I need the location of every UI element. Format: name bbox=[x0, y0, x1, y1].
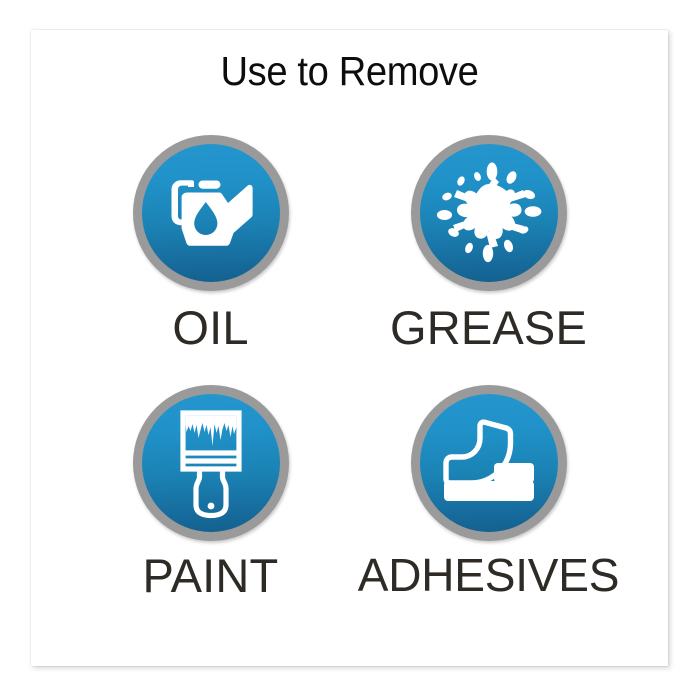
grid-item-paint[interactable]: PAINT bbox=[72, 385, 350, 601]
badge-inner-oil bbox=[142, 144, 280, 282]
badge-inner-grease bbox=[420, 144, 558, 282]
label-grease: GREASE bbox=[390, 303, 587, 353]
splatter-icon bbox=[436, 160, 542, 266]
badge-oil[interactable] bbox=[133, 135, 289, 291]
grid-item-oil[interactable]: OIL bbox=[72, 135, 350, 353]
badge-paint[interactable] bbox=[133, 385, 289, 541]
badge-inner-adhesives bbox=[420, 394, 558, 532]
label-oil: OIL bbox=[172, 303, 248, 353]
grid-item-grease[interactable]: GREASE bbox=[350, 135, 628, 353]
icon-grid: OIL bbox=[31, 135, 668, 601]
page-title: Use to Remove bbox=[53, 48, 645, 95]
label-paint: PAINT bbox=[143, 551, 279, 601]
use-to-remove-card: Use to Remove bbox=[31, 30, 668, 666]
icon-grid-row-1: OIL bbox=[31, 135, 668, 353]
badge-adhesives[interactable] bbox=[411, 385, 567, 541]
badge-inner-paint bbox=[142, 394, 280, 532]
screenshot-root: Use to Remove bbox=[0, 0, 700, 700]
paint-brush-icon bbox=[159, 407, 263, 519]
label-adhesives: ADHESIVES bbox=[358, 551, 620, 600]
grid-item-adhesives[interactable]: ADHESIVES bbox=[350, 385, 628, 600]
badge-grease[interactable] bbox=[411, 135, 567, 291]
oil-can-icon bbox=[159, 161, 263, 265]
icon-grid-row-2: PAINT bbox=[31, 385, 668, 601]
peeling-tape-icon bbox=[436, 413, 542, 513]
